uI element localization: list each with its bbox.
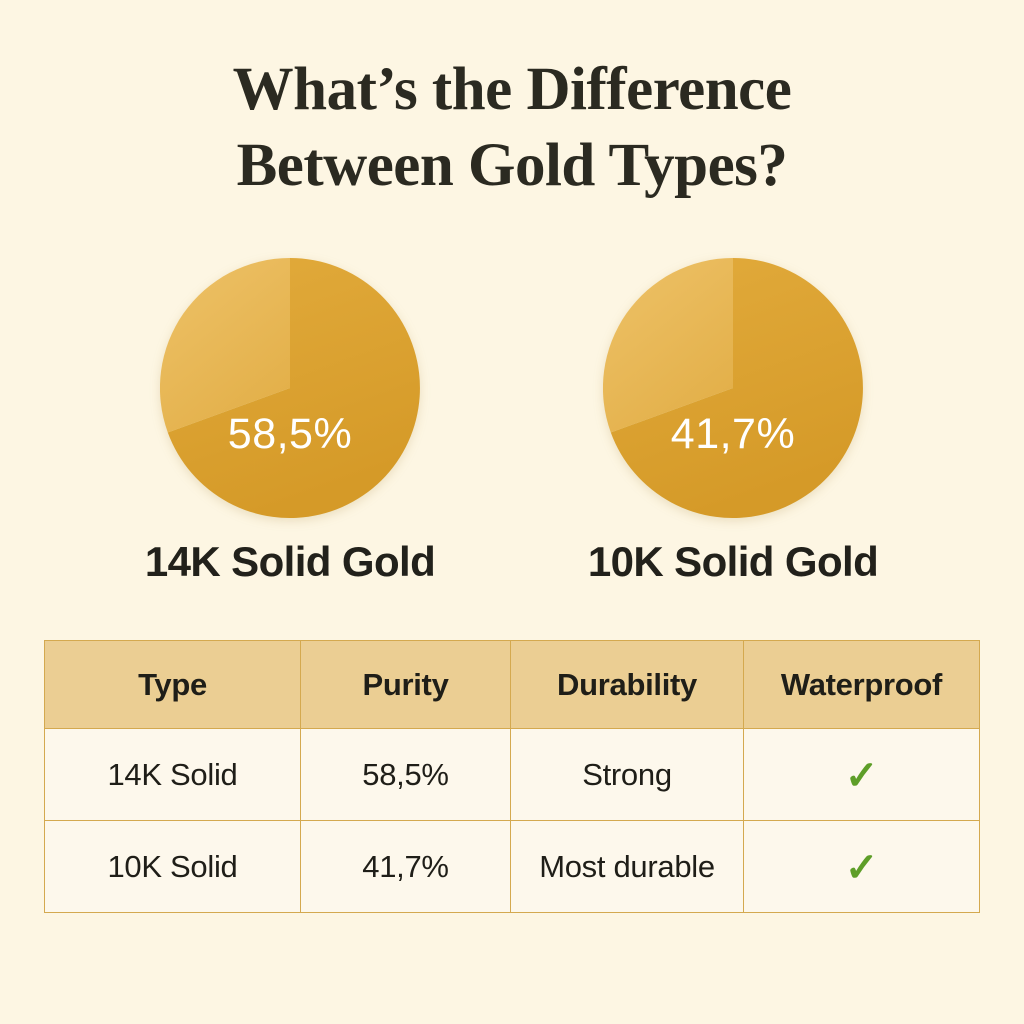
column-header-type: Type	[45, 641, 301, 729]
column-header-durability: Durability	[511, 641, 744, 729]
cell-waterproof: ✓	[744, 821, 980, 913]
gold-comparison-table: Type Purity Durability Waterproof 14K So…	[44, 640, 980, 913]
page-title: What’s the Difference Between Gold Types…	[0, 52, 1024, 204]
cell-purity: 41,7%	[301, 821, 511, 913]
pie-chart-10k-graphic	[603, 258, 863, 518]
column-header-waterproof: Waterproof	[744, 641, 980, 729]
page-title-line-2: Between Gold Types?	[0, 128, 1024, 204]
cell-durability: Most durable	[511, 821, 744, 913]
table-header-row: Type Purity Durability Waterproof	[45, 641, 980, 729]
cell-type: 14K Solid	[45, 729, 301, 821]
pie-chart-10k-caption: 10K Solid Gold	[523, 538, 943, 586]
table-header: Type Purity Durability Waterproof	[45, 641, 980, 729]
pie-chart-14k-caption: 14K Solid Gold	[80, 538, 500, 586]
table-row: 10K Solid 41,7% Most durable ✓	[45, 821, 980, 913]
pie-chart-10k: 41,7%	[603, 258, 863, 518]
cell-purity: 58,5%	[301, 729, 511, 821]
check-icon: ✓	[845, 848, 878, 888]
infographic-root: What’s the Difference Between Gold Types…	[0, 0, 1024, 1024]
pie-chart-14k-graphic	[160, 258, 420, 518]
cell-type: 10K Solid	[45, 821, 301, 913]
pie-chart-14k: 58,5%	[160, 258, 420, 518]
table-row: 14K Solid 58,5% Strong ✓	[45, 729, 980, 821]
cell-waterproof: ✓	[744, 729, 980, 821]
cell-durability: Strong	[511, 729, 744, 821]
pie-chart-group: 58,5% 41,7%	[0, 258, 1024, 518]
column-header-purity: Purity	[301, 641, 511, 729]
table-body: 14K Solid 58,5% Strong ✓ 10K Solid 41,7%…	[45, 729, 980, 913]
page-title-line-1: What’s the Difference	[0, 52, 1024, 128]
check-icon: ✓	[845, 756, 878, 796]
